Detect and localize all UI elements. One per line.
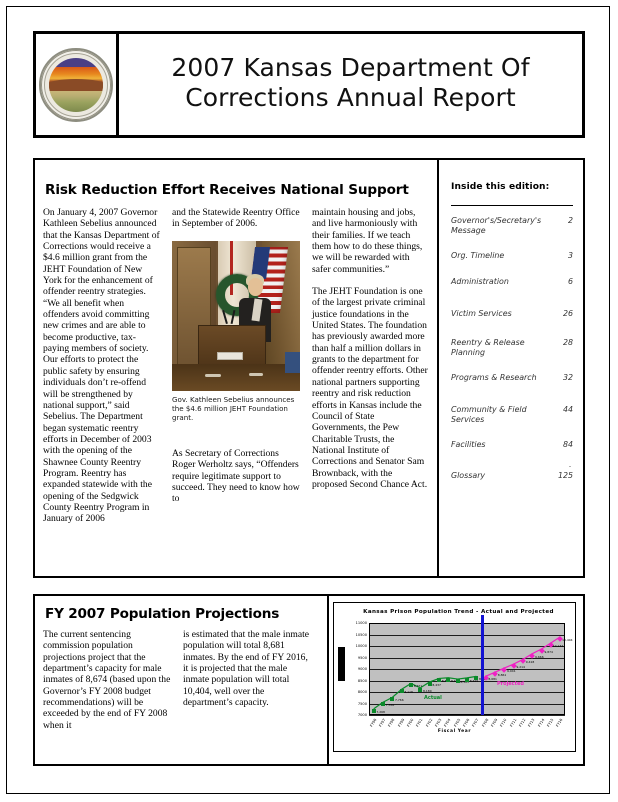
article-columns: On January 4, 2007 Governor Kathleen Seb… bbox=[43, 207, 429, 536]
report-title-line2: Corrections Annual Report bbox=[185, 83, 516, 113]
chart-x-tick: FY16 bbox=[556, 718, 564, 728]
toc-item-facilities[interactable]: Facilities 84 bbox=[451, 440, 573, 450]
fy-column-2: is estimated that the male inmate popula… bbox=[183, 629, 311, 731]
chart-marker bbox=[446, 678, 450, 682]
lead-article-box: Risk Reduction Effort Receives National … bbox=[33, 158, 585, 578]
chart-x-tick: FY15 bbox=[546, 718, 554, 728]
photo-table-object-right bbox=[249, 373, 263, 376]
chart-marker bbox=[465, 678, 469, 682]
chart-data-label: 9,418 bbox=[526, 660, 535, 664]
article-column-3: maintain housing and jobs, and live harm… bbox=[312, 207, 429, 536]
chart-x-tick: FY12 bbox=[518, 718, 526, 728]
prison-population-chart: Kansas Prison Population Trend - Actual … bbox=[333, 602, 576, 752]
chart-x-tick: FY96 bbox=[369, 718, 377, 728]
toc-item-glossary[interactable]: Glossary 125 bbox=[451, 471, 573, 481]
toc-item-community-field-services[interactable]: Community & Field Services 44 bbox=[451, 405, 573, 425]
chart-data-label: 10,134 bbox=[553, 644, 564, 648]
fy-col2-paragraph: is estimated that the male inmate popula… bbox=[183, 629, 311, 708]
chart-data-label: 9,041 bbox=[507, 669, 516, 673]
chart-x-tick: FY97 bbox=[378, 718, 386, 728]
chart-x-axis-title: Fiscal Year bbox=[334, 729, 575, 734]
sidebar-stray-dot: . bbox=[451, 460, 571, 469]
sidebar-divider bbox=[451, 205, 573, 206]
chart-marker bbox=[418, 688, 422, 692]
chart-x-tick: FY07 bbox=[472, 718, 480, 728]
chart-x-tick: FY01 bbox=[416, 718, 424, 728]
chart-panel: Kansas Prison Population Trend - Actual … bbox=[327, 596, 583, 764]
toc-label: Org. Timeline bbox=[451, 251, 553, 261]
chart-marker bbox=[400, 689, 404, 693]
chart-x-tick: FY11 bbox=[509, 718, 517, 728]
toc-item-governors-message[interactable]: Governor's/Secretary's Message 2 bbox=[451, 216, 573, 236]
chart-marker bbox=[428, 682, 432, 686]
chart-gridline bbox=[369, 715, 565, 716]
article-column-1: On January 4, 2007 Governor Kathleen Seb… bbox=[43, 207, 160, 536]
photo-table-object-left bbox=[205, 374, 221, 377]
report-title-line1: 2007 Kansas Department Of bbox=[171, 53, 529, 83]
toc-page-number: 28 bbox=[553, 338, 573, 348]
toc-page-number: 125 bbox=[553, 471, 573, 481]
photo-podium bbox=[198, 325, 267, 369]
chart-data-label: 8,437 bbox=[432, 683, 441, 687]
chart-x-tick: FY98 bbox=[388, 718, 396, 728]
masthead: 2007 Kansas Department Of Corrections An… bbox=[33, 31, 585, 138]
chart-data-label: 7,268 bbox=[376, 710, 385, 714]
chart-data-label: 8,681 bbox=[488, 677, 497, 681]
photo-speaker-head bbox=[248, 278, 263, 296]
article-col2-paragraph-2: As Secretary of Corrections Roger Werhol… bbox=[172, 448, 300, 505]
toc-item-programs-research[interactable]: Programs & Research 32 bbox=[451, 373, 573, 383]
toc-page-number: 3 bbox=[553, 251, 573, 261]
chart-y-tick: 7000 bbox=[358, 713, 367, 717]
toc-label: Glossary bbox=[451, 471, 553, 481]
chart-y-axis-title bbox=[338, 647, 345, 681]
chart-data-label: 9,666 bbox=[535, 655, 544, 659]
toc-page-number: 84 bbox=[553, 440, 573, 450]
article-col3-paragraph-2: The JEHT Foundation is one of the larges… bbox=[312, 286, 429, 490]
toc-label: Facilities bbox=[451, 440, 553, 450]
chart-marker bbox=[437, 678, 441, 682]
toc-page-number: 2 bbox=[553, 216, 573, 226]
chart-x-tick: FY13 bbox=[528, 718, 536, 728]
chart-data-label: 9,874 bbox=[544, 650, 553, 654]
inside-this-edition-sidebar: Inside this edition: Governor's/Secretar… bbox=[437, 160, 583, 576]
toc-page-number: 44 bbox=[553, 405, 573, 415]
photo-foreground-table bbox=[172, 364, 300, 391]
chart-data-label: 8,861 bbox=[498, 673, 507, 677]
toc-label: Community & Field Services bbox=[451, 405, 553, 425]
chart-x-tick: FY99 bbox=[397, 718, 405, 728]
fy-columns: The current sentencing commission popula… bbox=[43, 629, 319, 731]
toc-label: Administration bbox=[451, 277, 553, 287]
chart-y-tick: 8000 bbox=[358, 690, 367, 694]
seal-lettering bbox=[41, 50, 111, 120]
chart-marker bbox=[381, 702, 385, 706]
report-title: 2007 Kansas Department Of Corrections An… bbox=[119, 34, 582, 135]
chart-x-tick: FY08 bbox=[481, 718, 489, 728]
chart-x-tick: FY03 bbox=[434, 718, 442, 728]
chart-marker bbox=[372, 709, 376, 713]
chart-data-label: 8,118 bbox=[404, 690, 413, 694]
chart-data-label: 7,556 bbox=[386, 703, 395, 707]
chart-marker bbox=[409, 683, 413, 687]
chart-data-label: 7,766 bbox=[395, 698, 404, 702]
chart-y-tick: 9000 bbox=[358, 667, 367, 671]
fy-column-1: The current sentencing commission popula… bbox=[43, 629, 171, 731]
lead-article-body: Risk Reduction Effort Receives National … bbox=[35, 160, 437, 576]
toc-item-victim-services[interactable]: Victim Services 26 bbox=[451, 309, 573, 319]
article-col3-paragraph-1: maintain housing and jobs, and live harm… bbox=[312, 207, 429, 275]
toc-item-administration[interactable]: Administration 6 bbox=[451, 277, 573, 287]
population-projections-text: FY 2007 Population Projections The curre… bbox=[35, 596, 327, 764]
photo-caption: Gov. Kathleen Sebelius announces the $4.… bbox=[172, 395, 300, 422]
chart-x-tick: FY05 bbox=[453, 718, 461, 728]
chart-y-tick: 7500 bbox=[358, 702, 367, 706]
chart-data-label: 9,214 bbox=[516, 665, 525, 669]
chart-y-tick: 10500 bbox=[356, 633, 367, 637]
chart-plot-area: 110001050010000950090008500800075007000 … bbox=[369, 623, 565, 715]
article-column-2: and the Statewide Reentry Office in Sept… bbox=[172, 207, 300, 536]
chart-marker bbox=[390, 697, 394, 701]
sebelius-photo bbox=[172, 241, 300, 391]
toc-label: Governor's/Secretary's Message bbox=[451, 216, 553, 236]
chart-x-tick: FY04 bbox=[444, 718, 452, 728]
chart-data-label: 10,404 bbox=[562, 638, 573, 642]
sidebar-title: Inside this edition: bbox=[451, 182, 573, 192]
chart-y-tick: 11000 bbox=[356, 621, 367, 625]
chart-data-label: 8,180 bbox=[423, 689, 432, 693]
chart-y-tick: 10000 bbox=[356, 644, 367, 648]
photo-attendee bbox=[285, 352, 300, 373]
article-headline: Risk Reduction Effort Receives National … bbox=[45, 182, 429, 198]
toc-page-number: 26 bbox=[553, 309, 573, 319]
chart-actual-projected-divider bbox=[481, 615, 484, 715]
toc-item-org-timeline[interactable]: Org. Timeline 3 bbox=[451, 251, 573, 261]
population-projections-box: FY 2007 Population Projections The curre… bbox=[33, 594, 585, 766]
chart-title: Kansas Prison Population Trend - Actual … bbox=[342, 609, 575, 615]
toc-label: Programs & Research bbox=[451, 373, 553, 383]
fy-section-headline: FY 2007 Population Projections bbox=[45, 606, 319, 622]
article-col1-paragraph: On January 4, 2007 Governor Kathleen Seb… bbox=[43, 207, 160, 525]
chart-marker bbox=[474, 676, 478, 680]
toc-page-number: 6 bbox=[553, 277, 573, 287]
photo-podium-plaque bbox=[217, 352, 243, 360]
article-col2-paragraph-1: and the Statewide Reentry Office in Sept… bbox=[172, 207, 300, 230]
chart-x-tick: FY09 bbox=[490, 718, 498, 728]
page-canvas: 2007 Kansas Department Of Corrections An… bbox=[0, 0, 618, 802]
chart-y-tick: 8500 bbox=[358, 679, 367, 683]
chart-series-label: Actual bbox=[424, 695, 442, 701]
chart-series-label: Projected bbox=[497, 681, 524, 687]
chart-marker bbox=[456, 679, 460, 683]
fy-col1-paragraph: The current sentencing commission popula… bbox=[43, 629, 171, 731]
chart-x-tick: FY14 bbox=[537, 718, 545, 728]
seal-container bbox=[36, 34, 119, 135]
toc-label: Reentry & Release Planning bbox=[451, 338, 553, 358]
chart-x-tick: FY00 bbox=[406, 718, 414, 728]
state-seal-icon bbox=[39, 48, 113, 122]
chart-x-tick: FY10 bbox=[500, 718, 508, 728]
chart-x-tick: FY06 bbox=[462, 718, 470, 728]
chart-y-tick: 9500 bbox=[358, 656, 367, 660]
toc-label: Victim Services bbox=[451, 309, 553, 319]
toc-page-number: 32 bbox=[553, 373, 573, 383]
toc-item-reentry-release-planning[interactable]: Reentry & Release Planning 28 bbox=[451, 338, 573, 358]
chart-x-tick: FY02 bbox=[425, 718, 433, 728]
